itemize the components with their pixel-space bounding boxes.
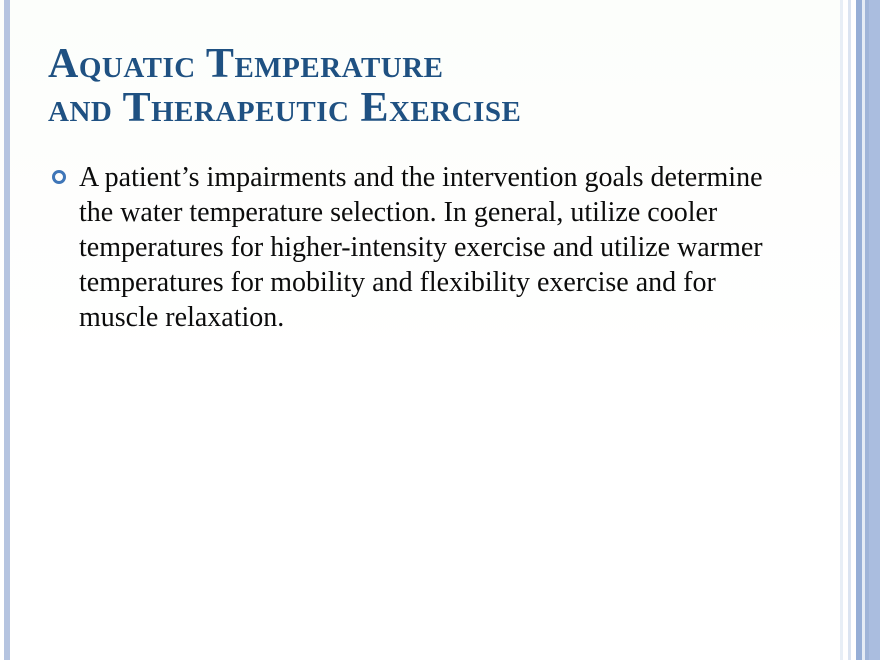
hollow-circle-bullet-icon [52, 170, 66, 184]
presentation-slide: Aquatic Temperature and Therapeutic Exer… [0, 0, 880, 660]
right-stripe-8 [869, 0, 880, 660]
list-item: A patient’s impairments and the interven… [48, 160, 778, 335]
left-accent-bar [4, 0, 10, 660]
slide-body: A patient’s impairments and the interven… [48, 160, 778, 335]
bullet-text: A patient’s impairments and the interven… [79, 160, 778, 335]
right-accent-stripes [840, 0, 880, 660]
slide-title-line-1: Aquatic Temperature [48, 42, 808, 86]
slide-title-line-2: and Therapeutic Exercise [48, 86, 808, 130]
slide-title: Aquatic Temperature and Therapeutic Exer… [48, 42, 808, 130]
